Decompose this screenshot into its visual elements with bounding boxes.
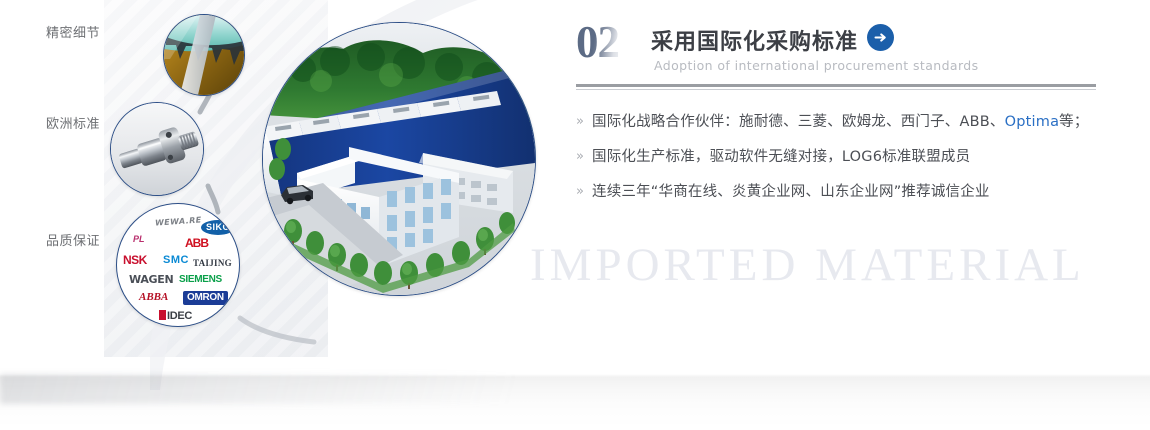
logo-wagen: WAGEN (129, 274, 173, 285)
right-content: 02 采用国际化采购标准 Adoption of international p… (576, 18, 1096, 217)
logo-abba: ABBA (139, 292, 168, 303)
watermark-text: IMPORTED MATERIAL (530, 238, 1085, 292)
page-subtitle: Adoption of international procurement st… (654, 58, 979, 73)
list-item-highlight: Optima (1005, 114, 1060, 130)
section-header: 02 采用国际化采购标准 Adoption of international p… (576, 18, 1096, 80)
factory-aerial-photo (262, 22, 536, 296)
section-number: 02 (576, 20, 619, 65)
list-item-text: 国际化生产标准，驱动软件无缝对接，LOG6标准联盟成员 (592, 147, 970, 167)
list-item: » 国际化生产标准，驱动软件无缝对接，LOG6标准联盟成员 (576, 147, 1096, 167)
arrow-right-icon[interactable] (867, 24, 894, 51)
logo-omron: OMRON (183, 291, 228, 305)
page-canvas: 精密细节 欧洲标准 品质保证 (0, 0, 1150, 430)
logo-taijing: TAIJING (193, 259, 232, 268)
logo-siemens: SIEMENS (179, 275, 222, 285)
list-item-lead: 连续三年“华商在线、炎黄企业网、山东企业网”推荐诚信企业 (592, 184, 990, 200)
logo-idec: IDEC (159, 310, 192, 322)
bottom-shadow-band (0, 374, 1150, 430)
logo-siko: SIKO (201, 220, 235, 235)
list-item-lead: 国际化战略合作伙伴：施耐德、三菱、欧姆龙、西门子、ABB、 (592, 114, 1005, 130)
label-quality-guarantee: 品质保证 (46, 230, 100, 249)
logo-idec-text: IDEC (167, 310, 192, 322)
side-label-group: 精密细节 欧洲标准 品质保证 (0, 0, 104, 357)
list-item-tail: 等； (1059, 114, 1088, 130)
chevron-right-icon: » (576, 182, 592, 202)
header-divider (576, 84, 1096, 90)
ball-screw-photo (110, 102, 204, 196)
gear-macro-photo (163, 14, 245, 96)
label-precision-detail: 精密细节 (46, 22, 100, 41)
page-title: 采用国际化采购标准 (651, 24, 858, 56)
list-item-lead: 国际化生产标准，驱动软件无缝对接，LOG6标准联盟成员 (592, 149, 970, 165)
feature-list: » 国际化战略合作伙伴：施耐德、三菱、欧姆龙、西门子、ABB、Optima等； … (576, 112, 1096, 202)
list-item-text: 国际化战略合作伙伴：施耐德、三菱、欧姆龙、西门子、ABB、Optima等； (592, 112, 1089, 132)
list-item: » 国际化战略合作伙伴：施耐德、三菱、欧姆龙、西门子、ABB、Optima等； (576, 112, 1096, 132)
logo-abb: ABB (185, 237, 208, 249)
logo-nsk: NSK (123, 254, 147, 266)
chevron-right-icon: » (576, 147, 592, 167)
logo-wewa: WEWA.RE (155, 216, 202, 227)
label-european-standard: 欧洲标准 (46, 113, 100, 132)
list-item-text: 连续三年“华商在线、炎黄企业网、山东企业网”推荐诚信企业 (592, 182, 990, 202)
logo-pl: PL (133, 235, 145, 244)
logo-smc: SMC (163, 255, 189, 266)
brand-logo-cloud: WEWA.RE SIKO PL ABB NSK SMC TAIJING WAGE… (116, 203, 240, 327)
chevron-right-icon: » (576, 112, 592, 132)
list-item: » 连续三年“华商在线、炎黄企业网、山东企业网”推荐诚信企业 (576, 182, 1096, 202)
